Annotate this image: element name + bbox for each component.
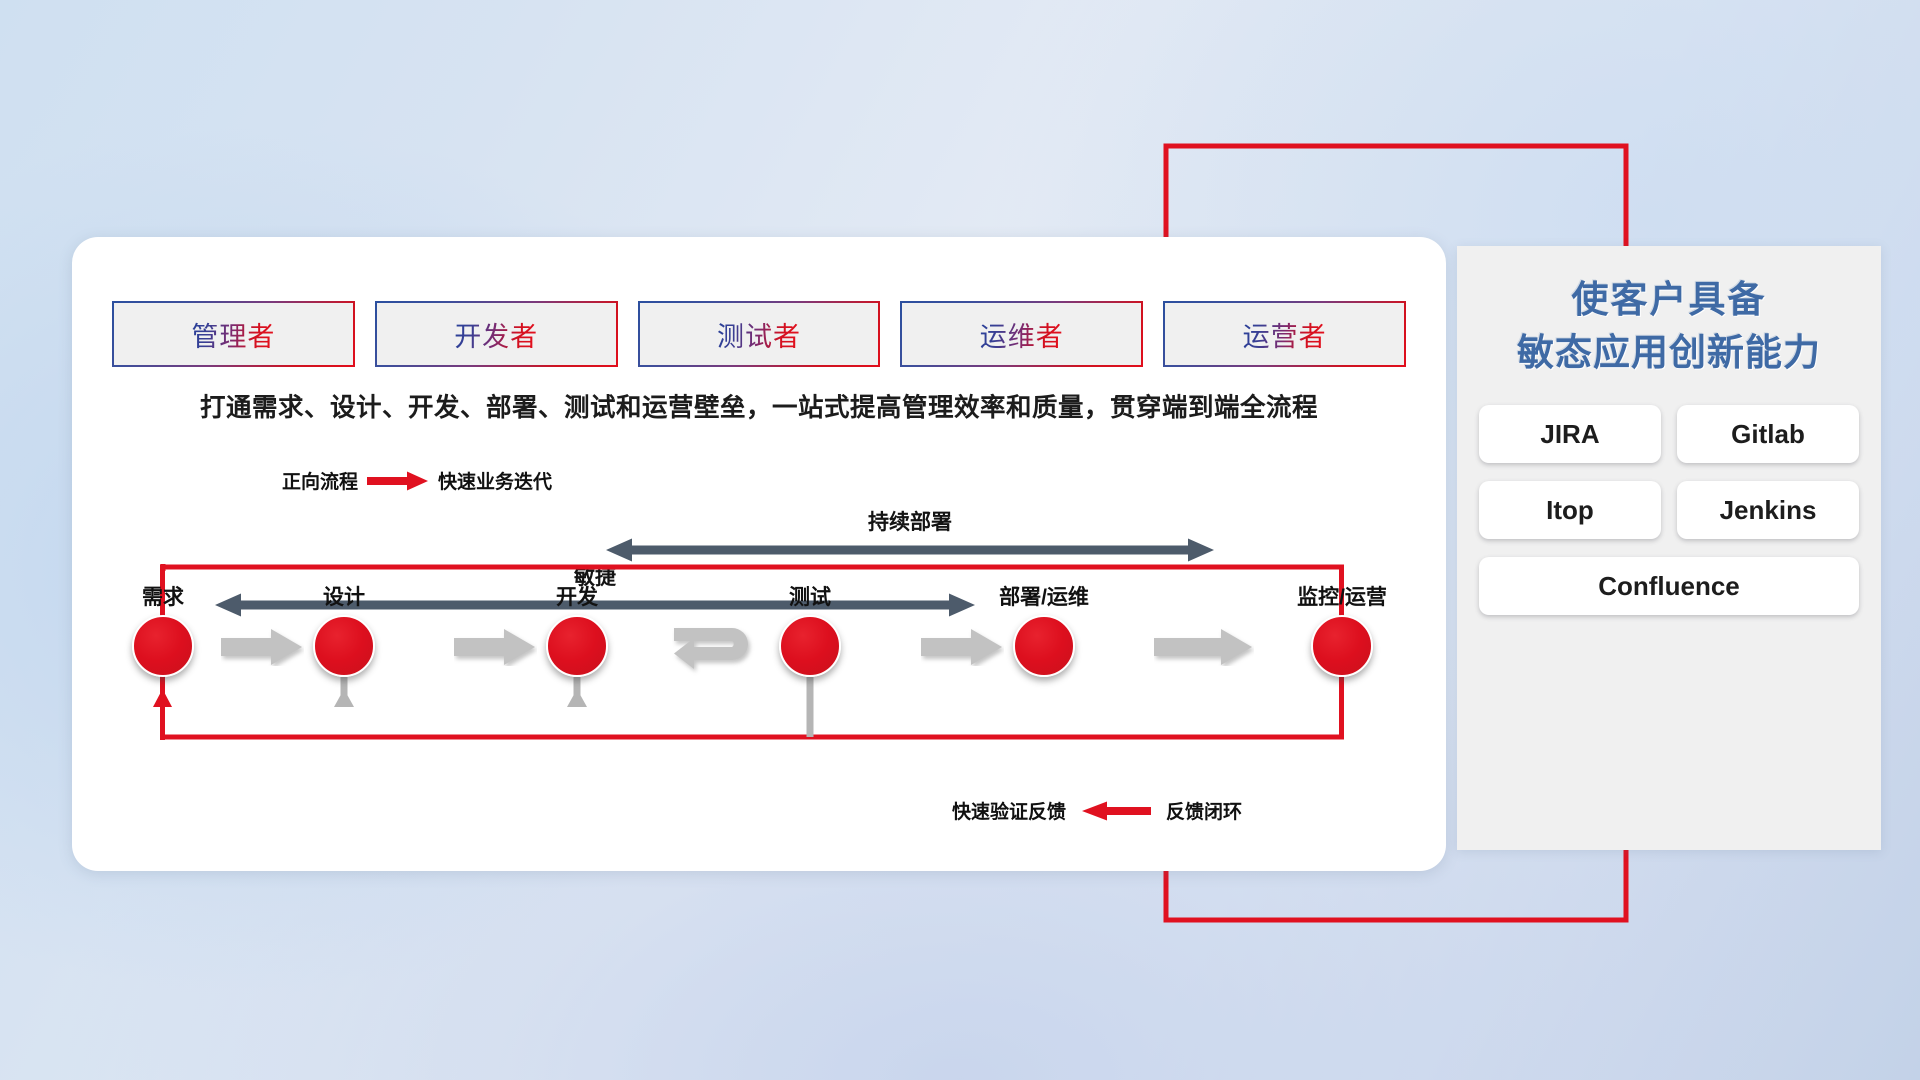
tool-chip-jenkins[interactable]: Jenkins: [1677, 481, 1859, 539]
gray-right-arrow-icon: [221, 628, 304, 666]
pipeline-node-development[interactable]: [546, 615, 608, 677]
red-left-arrow-icon: [1081, 801, 1151, 821]
tool-chip-list: JIRA Gitlab Itop Jenkins Confluence: [1479, 405, 1859, 615]
pipeline-label-monitor-operations: 监控/运营: [1297, 581, 1387, 611]
pipeline-node-testing[interactable]: [779, 615, 841, 677]
gray-right-arrow-icon: [454, 628, 537, 666]
pipeline-label-design: 设计: [323, 581, 365, 611]
gray-right-arrow-icon: [921, 628, 1004, 666]
tool-chip-label: Jenkins: [1720, 495, 1817, 526]
role-label: 开发者: [454, 315, 538, 354]
pipeline-label-testing: 测试: [789, 581, 831, 611]
outcome-panel: 使客户具备 敏态应用创新能力 JIRA Gitlab Itop Jenkins …: [1457, 246, 1881, 850]
tool-chip-gitlab[interactable]: Gitlab: [1677, 405, 1859, 463]
tool-chip-jira[interactable]: JIRA: [1479, 405, 1661, 463]
loop-back-arrow-icon: [672, 617, 772, 679]
pipeline-label-development: 开发: [556, 581, 598, 611]
legend-feedback-left-label: 快速验证反馈: [952, 797, 1066, 824]
role-label: 运维者: [980, 315, 1064, 354]
role-label: 测试者: [717, 315, 801, 354]
pipeline-label-requirements: 需求: [142, 581, 184, 611]
role-label: 运营者: [1243, 315, 1327, 354]
diagram-canvas: 管理者 开发者 测试者 运维者 运营者 打通需求、设计、开发、部署、测试和运营壁…: [0, 0, 1920, 1080]
tool-chip-label: Itop: [1546, 495, 1594, 526]
tool-chip-label: Confluence: [1598, 571, 1740, 602]
role-label: 管理者: [191, 315, 275, 354]
panel-title-line1: 使客户具备: [1457, 274, 1881, 327]
tool-chip-label: Gitlab: [1731, 419, 1805, 450]
pipeline-label-deploy-ops: 部署/运维: [999, 581, 1089, 611]
panel-title: 使客户具备 敏态应用创新能力: [1457, 274, 1881, 379]
tool-chip-confluence[interactable]: Confluence: [1479, 557, 1859, 615]
legend-feedback-loop: 快速验证反馈 反馈闭环: [952, 797, 1242, 824]
panel-title-line2: 敏态应用创新能力: [1457, 327, 1881, 380]
main-card: 管理者 开发者 测试者 运维者 运营者 打通需求、设计、开发、部署、测试和运营壁…: [72, 237, 1446, 871]
legend-feedback-right-label: 反馈闭环: [1166, 797, 1242, 824]
gray-right-arrow-icon: [1154, 628, 1254, 666]
pipeline-node-monitor-operations[interactable]: [1311, 615, 1373, 677]
pipeline-node-requirements[interactable]: [132, 615, 194, 677]
pipeline-node-design[interactable]: [313, 615, 375, 677]
pipeline-node-deploy-ops[interactable]: [1013, 615, 1075, 677]
tool-chip-label: JIRA: [1540, 419, 1599, 450]
tool-chip-itop[interactable]: Itop: [1479, 481, 1661, 539]
